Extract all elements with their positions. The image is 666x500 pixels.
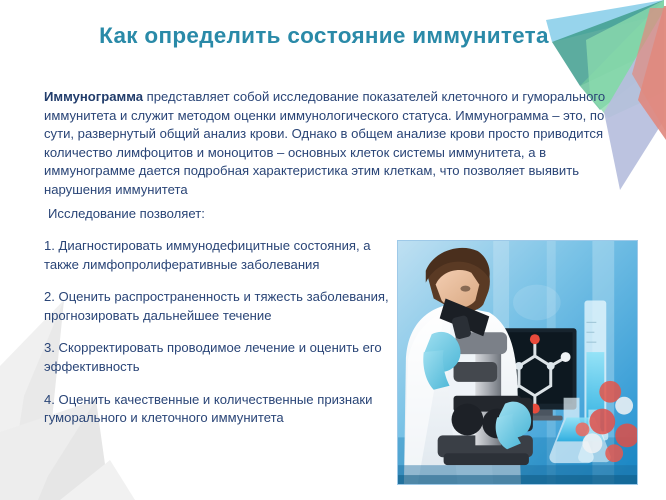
list-item: 4. Оценить качественные и количественные… <box>44 391 389 428</box>
lab-photo <box>398 241 637 484</box>
page-title: Как определить состояние иммунитета <box>0 22 666 49</box>
benefits-list: 1. Диагностировать иммунодефицитные сост… <box>44 237 389 428</box>
intro-bold-term: Иммунограмма <box>44 89 143 104</box>
slide-canvas: Как определить состояние иммунитета Имму… <box>0 0 666 500</box>
intro-paragraph: Иммунограмма представляет собой исследов… <box>44 88 624 200</box>
list-item: 2. Оценить распространенность и тяжесть … <box>44 288 389 325</box>
intro-paragraph-text: представляет собой исследование показате… <box>44 89 605 197</box>
deco-gray-5 <box>60 460 135 500</box>
lab-photo-frame <box>397 240 638 485</box>
list-item: 1. Диагностировать иммунодефицитные сост… <box>44 237 389 274</box>
list-lead-in: Исследование позволяет: <box>48 205 448 224</box>
list-item: 3. Скорректировать проводимое лечение и … <box>44 339 389 376</box>
